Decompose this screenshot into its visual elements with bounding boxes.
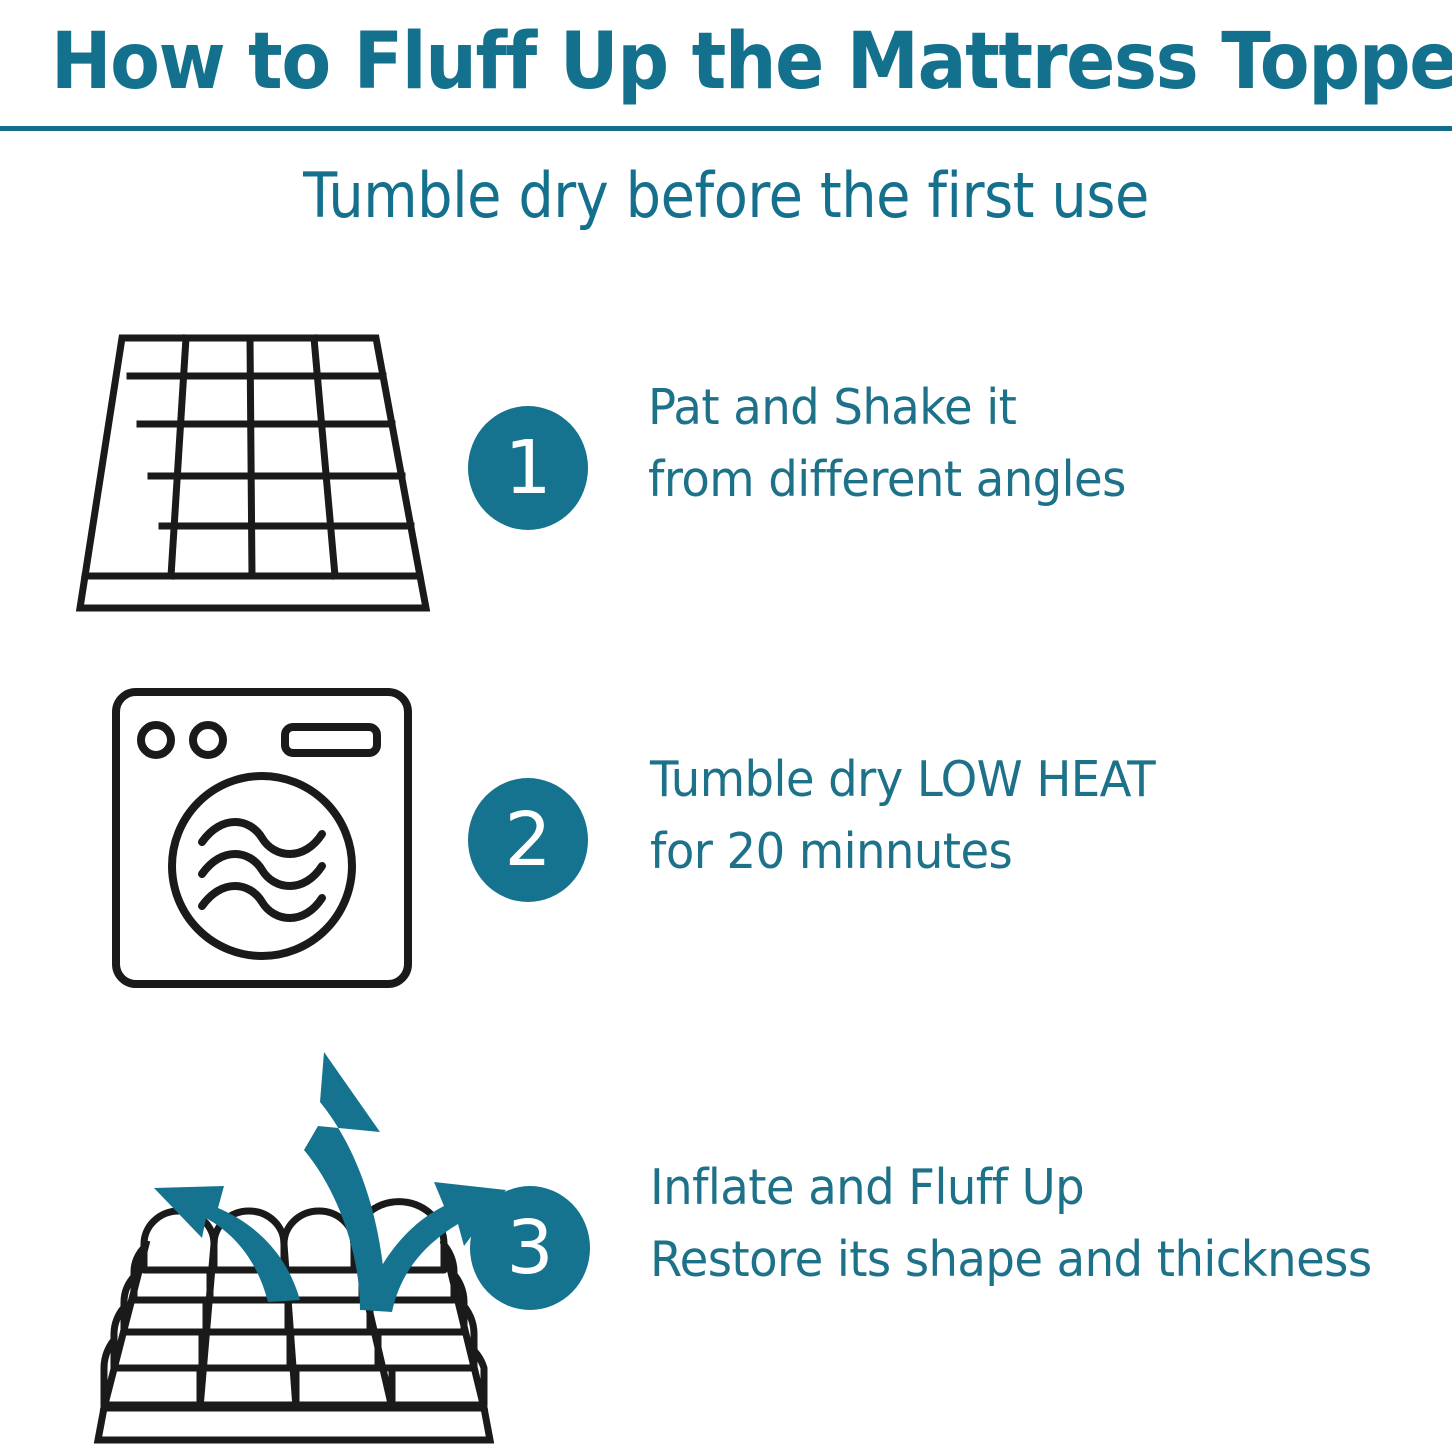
tumble-dryer-icon (110, 686, 420, 996)
header: How to Fluff Up the Mattress Topper Tumb… (0, 0, 1452, 240)
fluffed-mattress-topper-arrows-icon (92, 1010, 512, 1450)
dryer-wave-3-icon (202, 886, 322, 918)
step-1-line-1: Pat and Shake it (648, 372, 1126, 444)
page-subtitle: Tumble dry before the first use (73, 155, 1380, 237)
step-2: 2 Tumble dry LOW HEAT for 20 minnutes (0, 676, 1452, 1006)
dryer-display-panel-shape (285, 727, 377, 753)
flat-mattress-topper-grid-icon (80, 318, 460, 618)
step-1-text: Pat and Shake it from different angles (648, 372, 1126, 516)
step-2-line-2: for 20 minnutes (650, 816, 1155, 888)
step-1: 1 Pat and Shake it from different angles (0, 300, 1452, 630)
step-3-text: Inflate and Fluff Up Restore its shape a… (650, 1152, 1372, 1296)
step-number-badge-2: 2 (468, 778, 588, 902)
step-1-line-2: from different angles (648, 444, 1126, 516)
step-number-badge-1: 1 (468, 406, 588, 530)
step-3-line-1: Inflate and Fluff Up (650, 1152, 1372, 1224)
dryer-knob-left-icon (141, 725, 171, 755)
title-divider (0, 126, 1452, 131)
dryer-wave-1-icon (202, 822, 322, 854)
dryer-wave-2-icon (202, 854, 322, 886)
step-3: 3 Inflate and Fluff Up Restore its shape… (0, 1010, 1452, 1450)
step-2-text: Tumble dry LOW HEAT for 20 minnutes (650, 744, 1155, 888)
step-2-line-1: Tumble dry LOW HEAT (650, 744, 1155, 816)
page-title: How to Fluff Up the Mattress Topper (51, 12, 1401, 112)
step-3-line-2: Restore its shape and thickness (650, 1224, 1372, 1296)
step-number-badge-3: 3 (470, 1186, 590, 1310)
dryer-knob-right-icon (193, 725, 223, 755)
